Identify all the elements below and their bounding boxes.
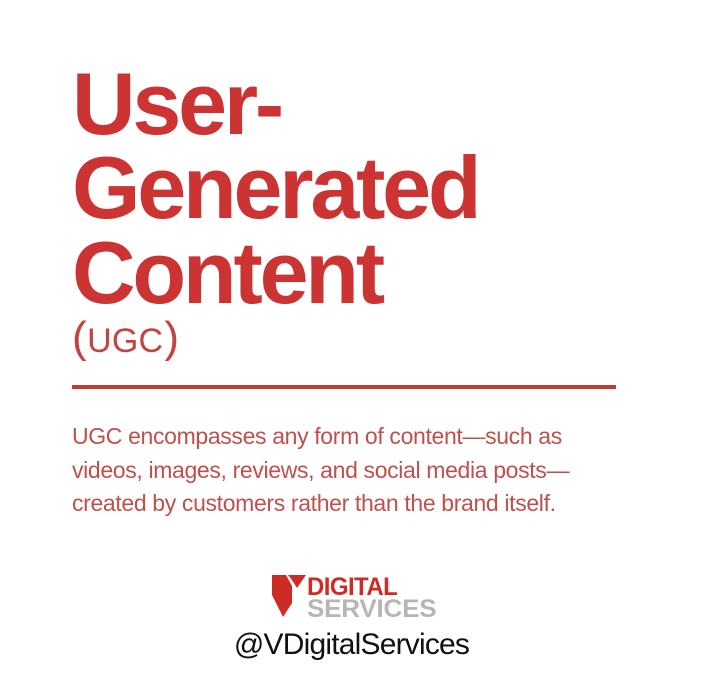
description-text: UGC encompasses any form of content—such…: [72, 420, 632, 521]
page-title: User- Generated Content: [72, 62, 632, 315]
social-post-card: User- Generated Content ( UGC ) UGC enco…: [0, 0, 703, 700]
horizontal-divider: [72, 385, 616, 389]
abbreviation-letters: UGC: [86, 324, 164, 358]
abbreviation-open-paren: (: [72, 316, 86, 360]
v-chevron-icon: [272, 575, 306, 617]
social-handle: @VDigitalServices: [0, 628, 703, 662]
brand-logo: DIGITAL SERVICES: [0, 575, 703, 620]
brand-logo-lockup: DIGITAL SERVICES: [272, 575, 431, 620]
abbreviation: ( UGC ): [72, 316, 178, 360]
brand-logo-wordmark: DIGITAL SERVICES: [307, 575, 431, 620]
brand-logo-services: SERVICES: [307, 598, 436, 620]
abbreviation-close-paren: ): [164, 316, 178, 360]
